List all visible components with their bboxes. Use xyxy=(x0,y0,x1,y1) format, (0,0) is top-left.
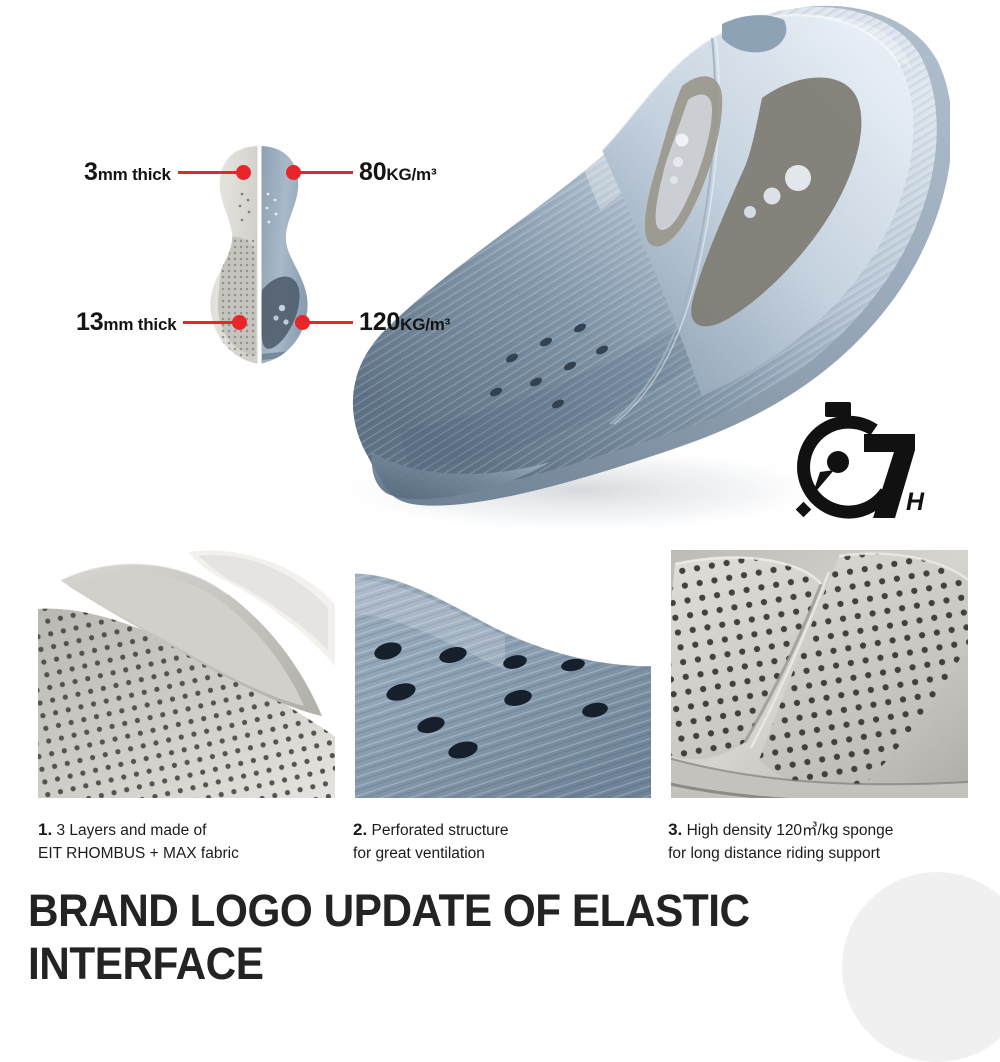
infographic-canvas: 3mm thick 13mm thick 80KG/m³ 120KG/m³ xyxy=(0,0,1000,1000)
headline-line-1: BRAND LOGO UPDATE OF ELASTIC xyxy=(28,884,902,937)
leader-line xyxy=(306,321,353,324)
callout-unit: mm thick xyxy=(98,165,171,184)
badge-hours-suffix: H xyxy=(906,488,925,516)
caption-number: 2. xyxy=(353,820,367,839)
leader-line xyxy=(183,321,236,324)
callout-value: 3 xyxy=(84,158,98,186)
caption-3: 3. High density 120㎥/kg sponge for long … xyxy=(668,818,986,876)
callout-density-bottom: 120KG/m³ xyxy=(295,310,450,335)
leader-line xyxy=(178,171,240,174)
callout-value: 120 xyxy=(359,308,400,336)
caption-line-2: for long distance riding support xyxy=(668,845,880,862)
feature-photo-2 xyxy=(355,550,652,798)
caption-line-2: for great ventilation xyxy=(353,845,485,862)
callout-unit: KG/m³ xyxy=(386,165,436,184)
caption-line-1: 3 Layers and made of xyxy=(57,822,207,839)
caption-number: 1. xyxy=(38,820,52,839)
feature-photo-row xyxy=(38,550,968,798)
page-title: BRAND LOGO UPDATE OF ELASTIC INTERFACE xyxy=(28,884,902,990)
callout-value: 13 xyxy=(76,308,103,336)
headline-line-2: INTERFACE xyxy=(28,937,902,990)
callout-density-top: 80KG/m³ xyxy=(286,160,436,185)
callout-value: 80 xyxy=(359,158,386,186)
caption-line-1: High density 120㎥/kg sponge xyxy=(687,822,894,839)
callout-unit: mm thick xyxy=(103,315,176,334)
leader-line xyxy=(297,171,353,174)
marker-dot xyxy=(232,315,247,330)
feature-photo-1 xyxy=(38,550,335,798)
caption-2: 2. Perforated structure for great ventil… xyxy=(353,818,648,876)
caption-number: 3. xyxy=(668,820,682,839)
callout-thickness-top: 3mm thick xyxy=(84,160,251,185)
feature-photo-3 xyxy=(671,550,968,798)
caption-1: 1. 3 Layers and made of EIT RHOMBUS + MA… xyxy=(38,818,333,876)
caption-line-2: EIT RHOMBUS + MAX fabric xyxy=(38,845,239,862)
stopwatch-icon: H xyxy=(778,400,938,535)
hero-section: 3mm thick 13mm thick 80KG/m³ 120KG/m³ xyxy=(0,0,1000,545)
caption-line-1: Perforated structure xyxy=(372,822,509,839)
marker-dot xyxy=(236,165,251,180)
callout-thickness-bottom: 13mm thick xyxy=(76,310,247,335)
callout-unit: KG/m³ xyxy=(400,315,450,334)
feature-captions: 1. 3 Layers and made of EIT RHOMBUS + MA… xyxy=(38,818,986,876)
